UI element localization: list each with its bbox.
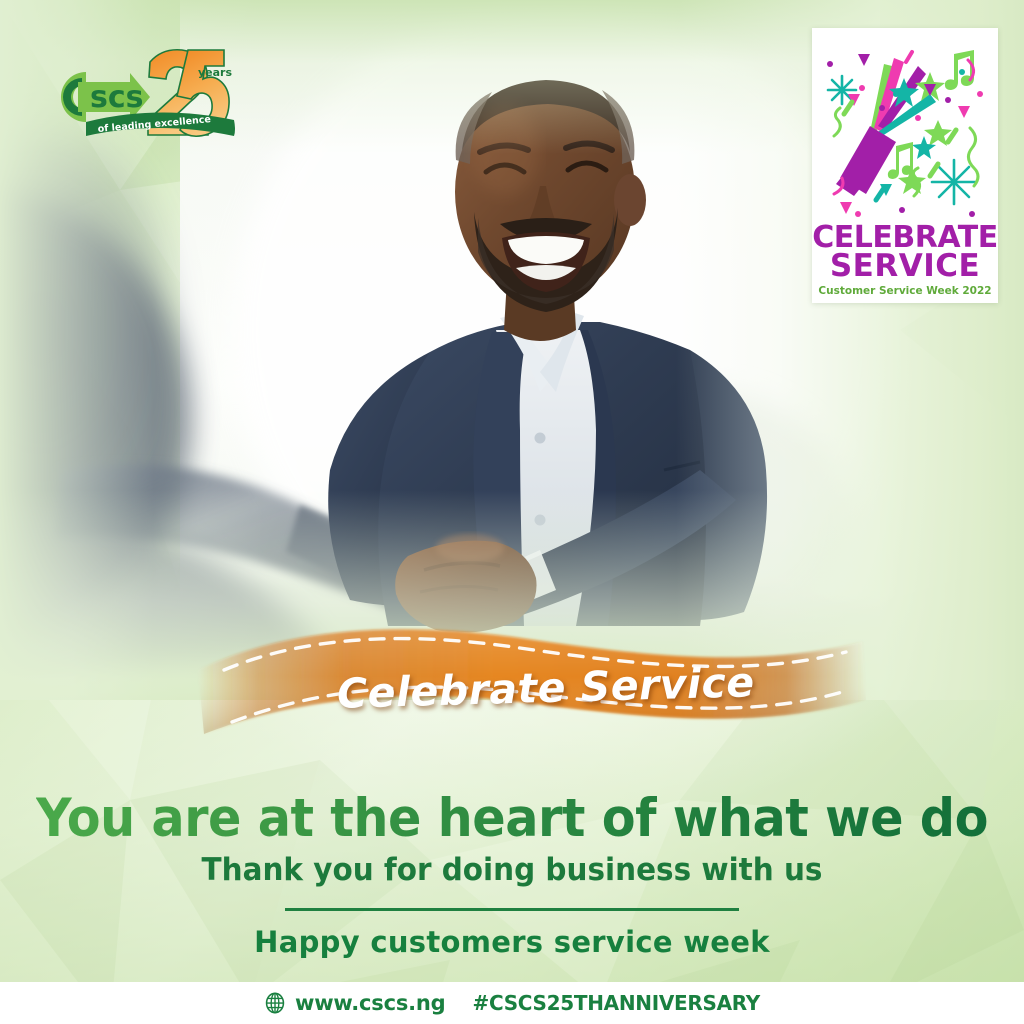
tagline-text: Happy customers service week	[0, 925, 1024, 959]
footer-bar: www.cscs.ng #CSCS25THANNIVERSARY	[0, 982, 1024, 1024]
badge-title-line2: SERVICE	[830, 248, 980, 284]
subheadline-text: Thank you for doing business with us	[26, 852, 999, 888]
svg-text:scs: scs	[90, 80, 144, 115]
footer-hashtag[interactable]: #CSCS25THANNIVERSARY	[473, 991, 761, 1015]
headline-text: You are at the heart of what we do	[36, 792, 988, 845]
section-divider	[285, 908, 739, 911]
globe-icon	[264, 992, 286, 1014]
cscs-25-years-logo: scs years of leading excellence	[38, 42, 246, 144]
footer-website[interactable]: www.cscs.ng	[295, 991, 446, 1015]
celebrate-service-badge: CELEBRATE SERVICE Customer Service Week …	[812, 28, 998, 303]
poster-canvas: scs years of leading excellence	[0, 0, 1024, 1024]
svg-text:years: years	[198, 66, 232, 79]
celebrate-service-ribbon: Celebrate Service	[190, 612, 870, 772]
ribbon-label: Celebrate Service	[337, 658, 756, 718]
badge-subtitle: Customer Service Week 2022	[818, 285, 991, 297]
